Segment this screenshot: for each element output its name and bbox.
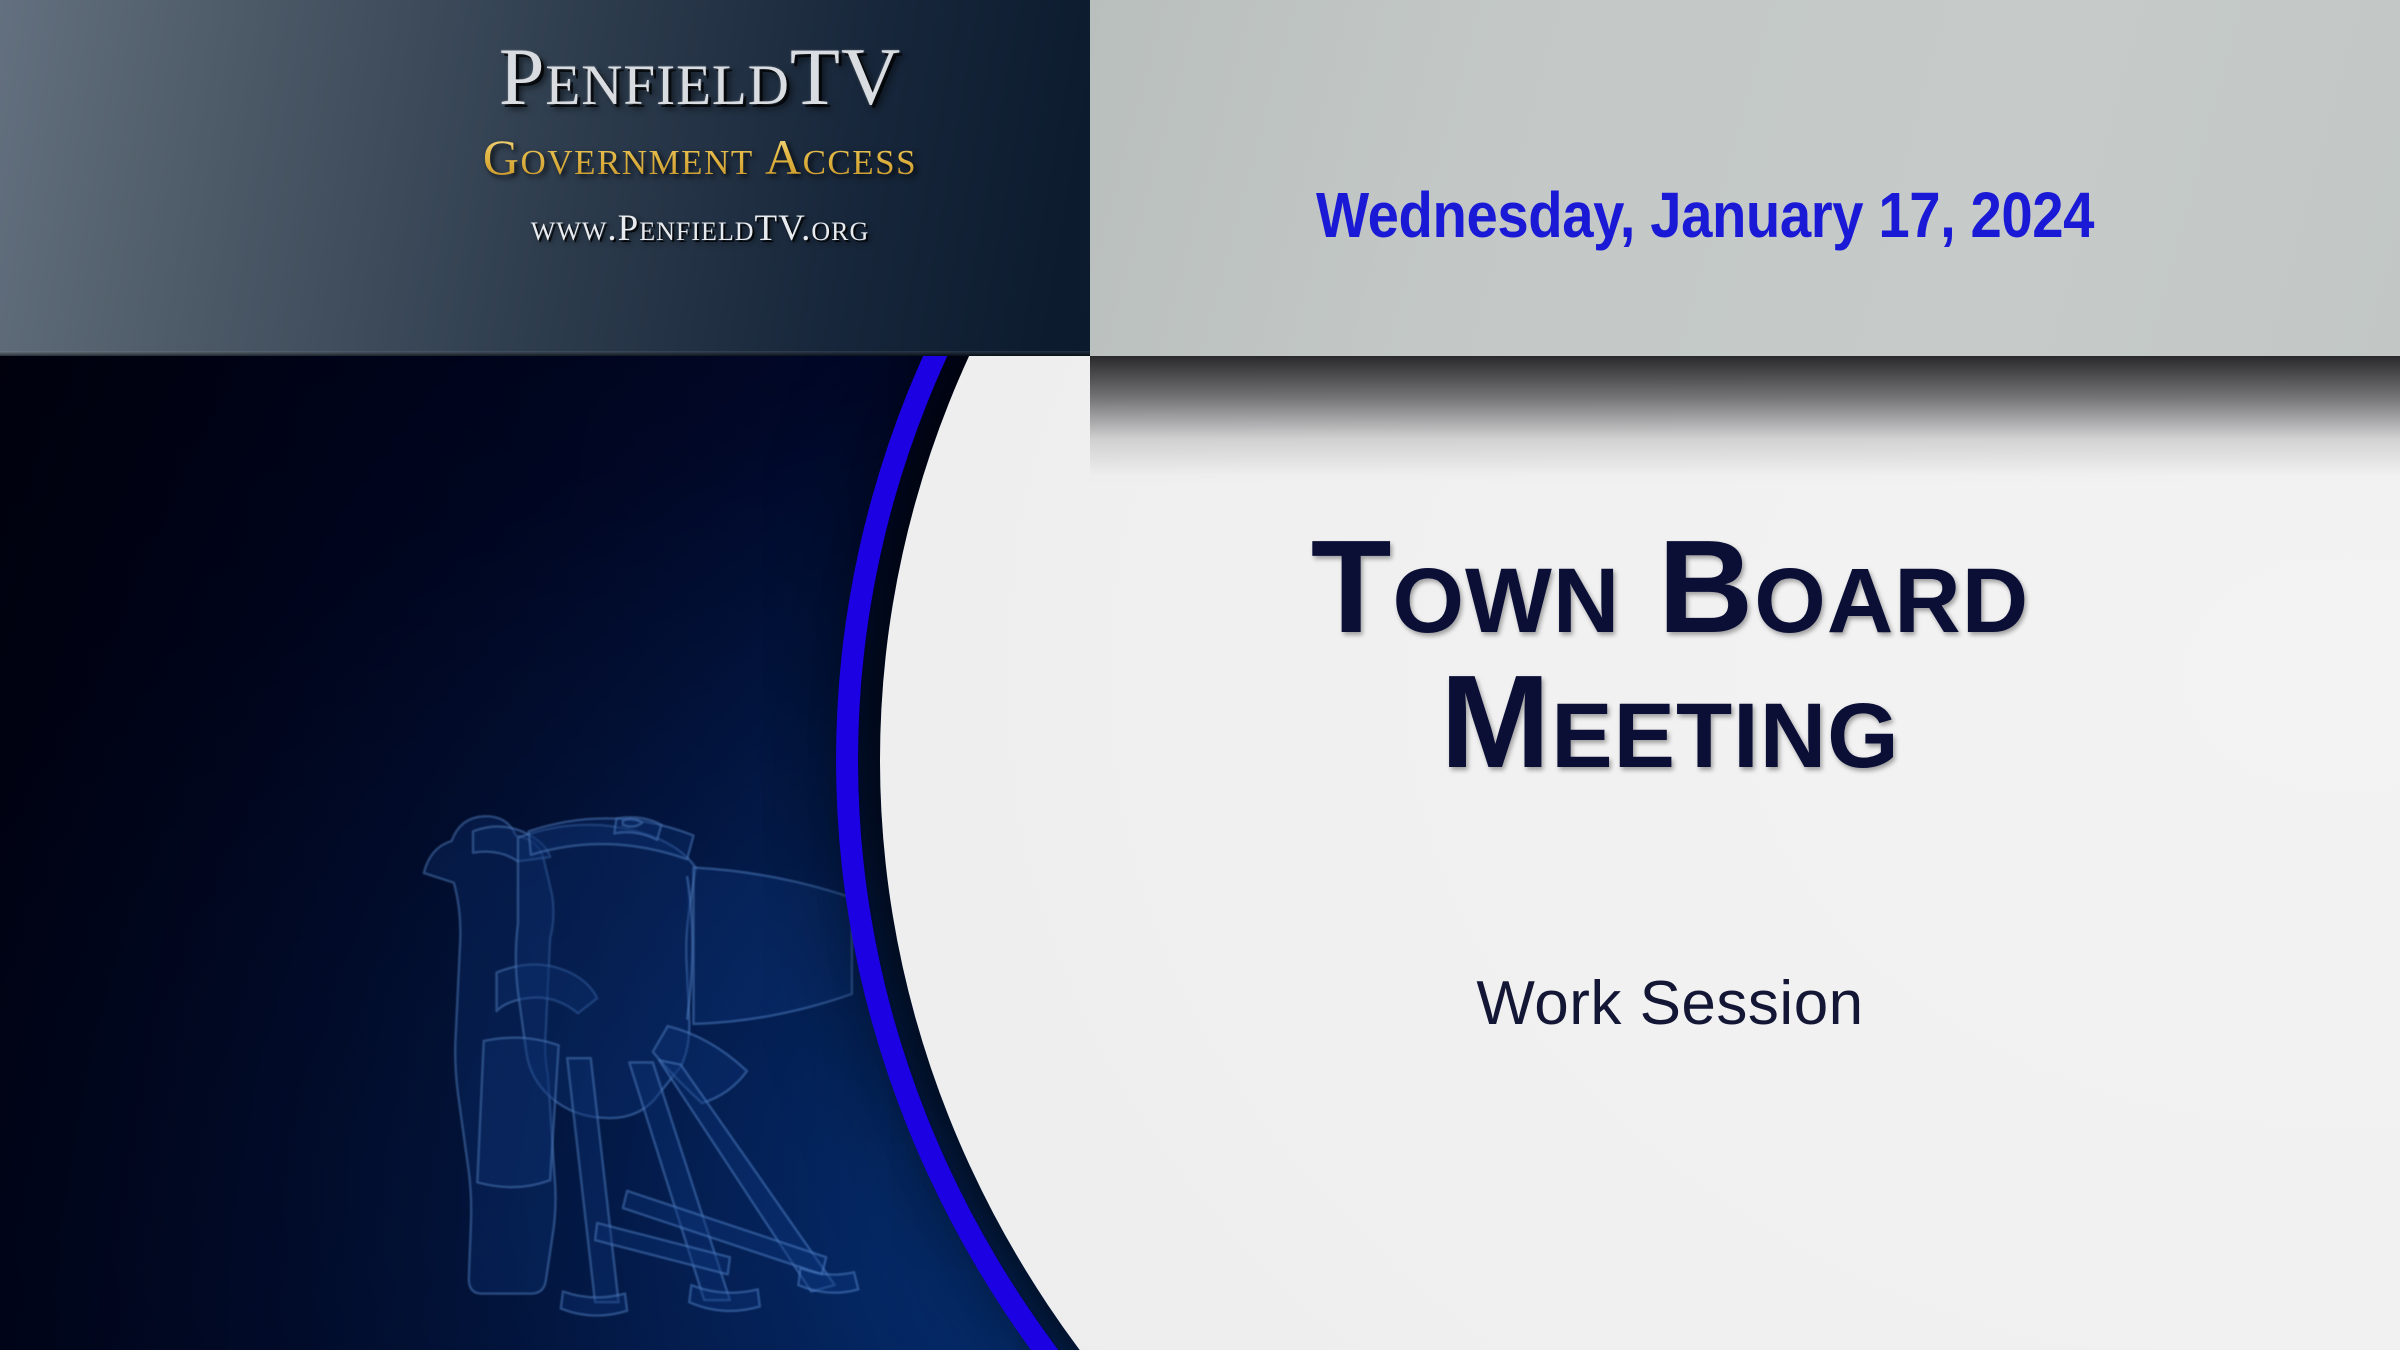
- station-tagline: Government Access: [400, 132, 1000, 182]
- title-line-2: Meeting: [1020, 655, 2320, 790]
- page-subtitle: Work Session: [1020, 968, 2320, 1039]
- title-card-stage: PenfieldTV Government Access www.Penfiel…: [0, 0, 2400, 1350]
- page-title: Town Board Meeting: [1020, 520, 2320, 789]
- title-line-1: Town Board: [1020, 520, 2320, 655]
- camera-operator-icon: [330, 720, 920, 1330]
- station-logo: PenfieldTV Government Access www.Penfiel…: [400, 36, 1000, 247]
- station-website: www.PenfieldTV.org: [400, 210, 1000, 247]
- meeting-date: Wednesday, January 17, 2024: [1199, 178, 2211, 252]
- station-name: PenfieldTV: [400, 36, 1000, 118]
